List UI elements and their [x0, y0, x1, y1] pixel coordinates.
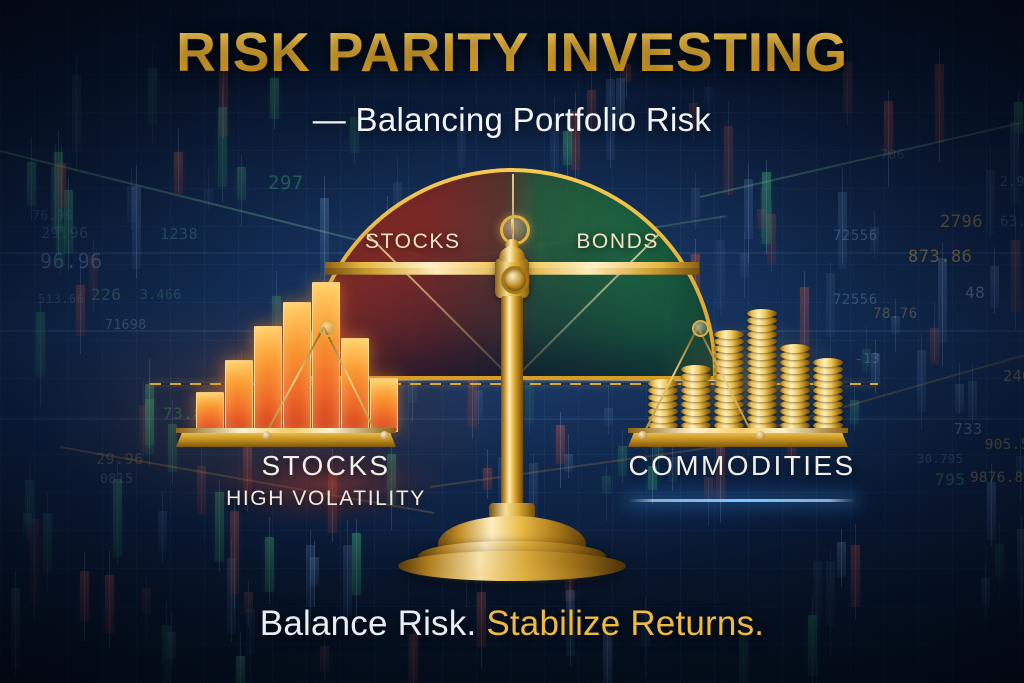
- pan-label-commodities: COMMODITIES: [592, 450, 892, 482]
- volatility-bar: [225, 360, 253, 432]
- tagline-part-white: Balance Risk.: [260, 604, 477, 643]
- coin: [648, 379, 678, 388]
- coin: [714, 330, 744, 339]
- pan-label-stocks-subtitle: HIGH VOLATILITY: [176, 487, 476, 511]
- pan-label-stocks: STOCKS HIGH VOLATILITY: [176, 450, 476, 511]
- poster-canvas: 29796.9629.9676.962267169873.8029.960815…: [0, 0, 1024, 683]
- volatility-bar: [283, 302, 311, 432]
- coin-stack: [813, 360, 843, 430]
- volatility-bar: [196, 392, 224, 432]
- volatility-bar: [341, 338, 369, 432]
- gauge-label-stocks: STOCKS: [365, 230, 461, 254]
- page-title: RISK PARITY INVESTING: [0, 20, 1024, 84]
- page-subtitle: — Balancing Portfolio Risk: [0, 101, 1024, 139]
- volatility-bar: [254, 326, 282, 432]
- coin: [780, 344, 810, 353]
- coin: [813, 358, 843, 367]
- coin-stack: [780, 344, 810, 430]
- gauge-label-bonds: BONDS: [576, 230, 659, 254]
- stocks-volatility-bar-chart: [196, 284, 396, 432]
- tagline-part-gold: Stabilize Returns.: [486, 604, 764, 643]
- tagline: Balance Risk. Stabilize Returns.: [0, 604, 1024, 644]
- coin-stack: [648, 382, 678, 430]
- pan-label-stocks-title: STOCKS: [176, 450, 476, 482]
- pan-label-commodities-title: COMMODITIES: [592, 450, 892, 482]
- volatility-bar: [370, 378, 398, 432]
- volatility-bar: [312, 282, 340, 432]
- coin-stack: [714, 335, 744, 430]
- coin-stack: [681, 368, 711, 430]
- commodities-underline-glow: [626, 499, 858, 502]
- coin: [681, 365, 711, 374]
- coin-stack: [747, 312, 777, 430]
- coin: [747, 309, 777, 318]
- commodities-coin-stacks: [648, 300, 848, 430]
